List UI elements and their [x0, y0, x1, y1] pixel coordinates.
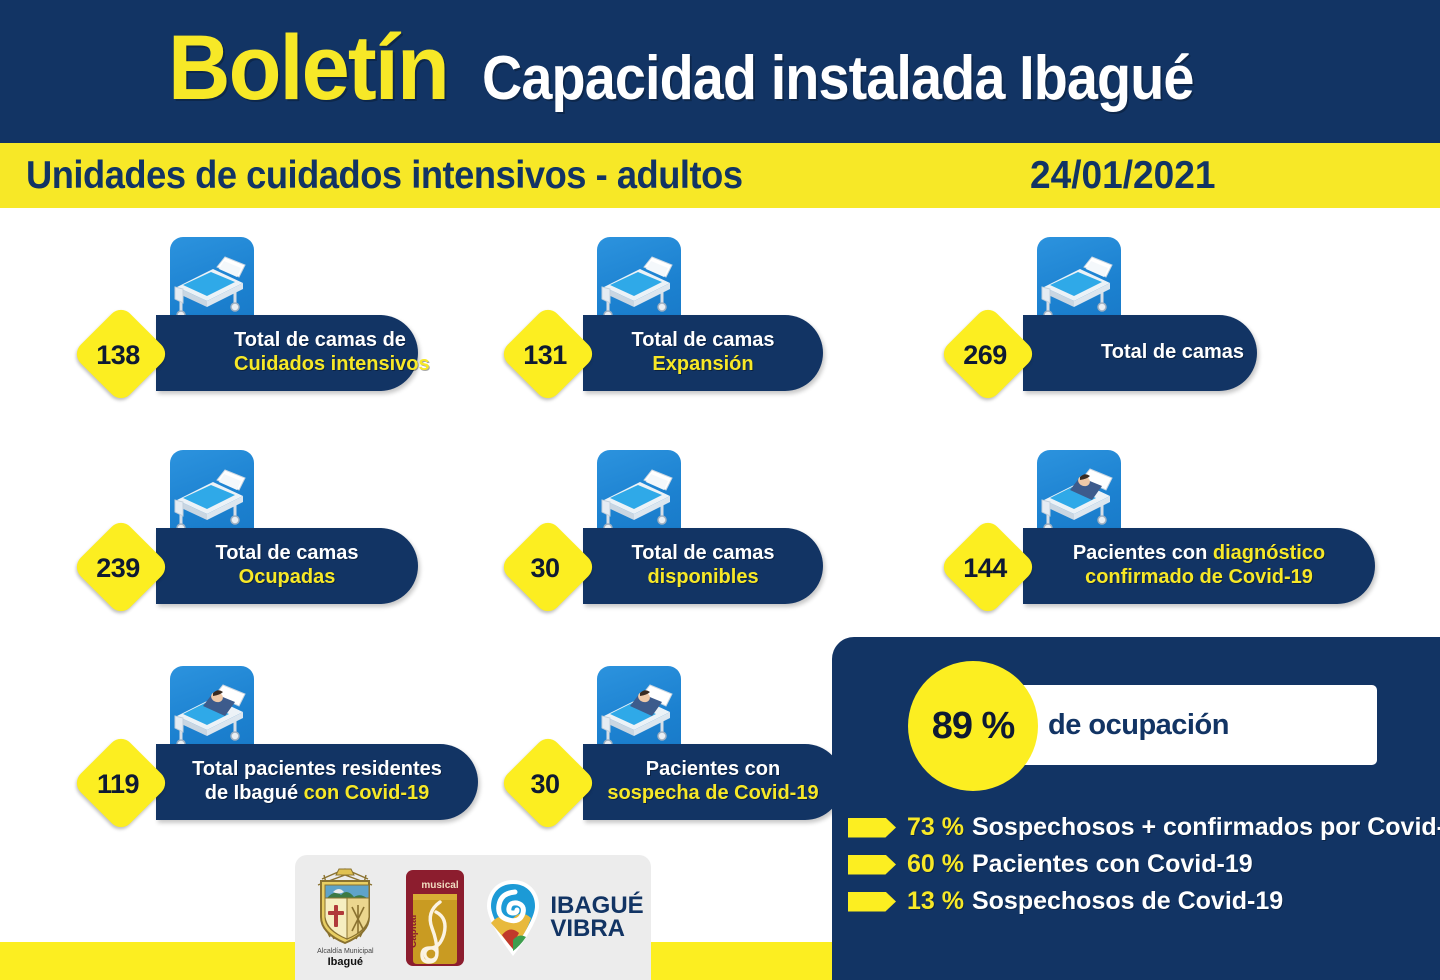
- legend-item: 13 % Sospechosos de Covid-19: [848, 883, 1428, 920]
- stat-label-line2: Cuidados intensivos: [234, 353, 418, 377]
- legend-text: Sospechosos + confirmados por Covid-19: [972, 813, 1440, 842]
- stat-card-pacientes-diagnostico-confirmado[interactable]: Pacientes con diagnóstico confirmado de …: [945, 450, 1375, 610]
- stat-label-line1: Total pacientes residentes: [192, 758, 442, 782]
- stat-label-line1: Total de camas: [631, 329, 774, 353]
- legend-item: 60 % Pacientes con Covid-19: [848, 846, 1428, 883]
- stat-card-pill: Pacientes con sospecha de Covid-19: [583, 744, 843, 820]
- stat-card-pill: Total de camas Expansión: [583, 315, 823, 391]
- stat-value-badge: 239: [78, 528, 158, 608]
- stat-value-badge: 138: [78, 315, 158, 395]
- stat-card-total-camas[interactable]: Total de camas 269: [945, 237, 1265, 397]
- shield-city-name: Ibagué: [328, 956, 363, 968]
- stat-value: 119: [78, 744, 158, 824]
- stat-value-badge: 131: [505, 315, 585, 395]
- header-title-group: Boletín Capacidad instalada Ibagué: [168, 22, 1272, 114]
- stat-card-total-camas-cuidados-intensivos[interactable]: Total de camas de Cuidados intensivos 13…: [78, 237, 418, 397]
- stat-value-badge: 269: [945, 315, 1025, 395]
- alcaldia-shield-logo: Alcaldía Municipal Ibagué: [302, 865, 388, 970]
- occupancy-percent-circle: 89 %: [908, 661, 1038, 791]
- stat-label-line1: Pacientes con diagnóstico: [1073, 542, 1325, 566]
- legend-arrow-chip-icon: [848, 818, 896, 838]
- stat-card-pacientes-sospecha-covid[interactable]: Pacientes con sospecha de Covid-19 30: [505, 666, 845, 826]
- stat-value: 138: [78, 315, 158, 395]
- report-date: 24/01/2021: [1030, 154, 1215, 198]
- stat-label-line1: Total de camas: [631, 542, 774, 566]
- stat-value: 30: [505, 744, 585, 824]
- stat-label-line2: confirmado de Covid-19: [1085, 566, 1313, 590]
- stat-label-line1: Total de camas: [215, 542, 358, 566]
- vibra-wordmark: IBAGUÉ VIBRA: [550, 895, 643, 939]
- stat-label-line1: Pacientes con: [646, 758, 781, 782]
- legend-text: Pacientes con Covid-19: [972, 850, 1253, 879]
- infographic-page: Boletín Capacidad instalada Ibagué Unida…: [0, 0, 1440, 980]
- legend-percent: 73 %: [907, 813, 964, 842]
- occupancy-legend: 73 % Sospechosos + confirmados por Covid…: [848, 809, 1428, 920]
- stat-label-line2-pre: de Ibagué: [205, 782, 304, 804]
- page-title-rest: Capacidad instalada Ibagué: [482, 48, 1194, 110]
- stat-label-line1-highlight: diagnóstico: [1213, 542, 1325, 564]
- stat-value: 131: [505, 315, 585, 395]
- stat-value: 239: [78, 528, 158, 608]
- stat-label-line1: Total de camas: [1101, 341, 1257, 365]
- subtitle-text: Unidades de cuidados intensivos - adulto…: [26, 154, 743, 198]
- stat-label-line1-pre: Pacientes con: [1073, 542, 1213, 564]
- stat-card-pill: Total de camas: [1023, 315, 1257, 391]
- ibague-vibra-logo: IBAGUÉ VIBRA: [482, 877, 643, 959]
- stat-value-badge: 30: [505, 528, 585, 608]
- stat-value-badge: 119: [78, 744, 158, 824]
- stat-card-total-camas-ocupadas[interactable]: Total de camas Ocupadas 239: [78, 450, 418, 610]
- occupancy-label: de ocupación: [1048, 685, 1229, 765]
- stat-label-line2: Expansión: [652, 353, 753, 377]
- stat-card-pill: Total de camas Ocupadas: [156, 528, 418, 604]
- legend-text: Sospechosos de Covid-19: [972, 887, 1283, 916]
- stat-label-line2: sospecha de Covid-19: [607, 782, 818, 806]
- header-banner: Boletín Capacidad instalada Ibagué: [0, 0, 1440, 143]
- legend-percent: 60 %: [907, 850, 964, 879]
- stat-card-pill: Total pacientes residentes de Ibagué con…: [156, 744, 478, 820]
- legend-item: 73 % Sospechosos + confirmados por Covid…: [848, 809, 1428, 846]
- occupancy-panel: 89 % de ocupación 73 % Sospechosos + con…: [832, 637, 1440, 980]
- stat-card-total-pacientes-residentes-ibague[interactable]: Total pacientes residentes de Ibagué con…: [78, 666, 478, 826]
- occupancy-percent-value: 89 %: [932, 705, 1015, 748]
- stat-value: 269: [945, 315, 1025, 395]
- stat-label-line2: disponibles: [647, 566, 758, 590]
- stat-card-total-camas-disponibles[interactable]: Total de camas disponibles 30: [505, 450, 825, 610]
- stat-label-line2: de Ibagué con Covid-19: [205, 782, 429, 806]
- svg-text:musical: musical: [422, 880, 459, 891]
- shield-caption: Alcaldía Municipal: [317, 948, 373, 956]
- capital-musical-logo: musical Capital: [404, 868, 466, 968]
- subtitle-band: Unidades de cuidados intensivos - adulto…: [0, 143, 1440, 208]
- legend-arrow-chip-icon: [848, 855, 896, 875]
- stat-label-line2: Ocupadas: [239, 566, 336, 590]
- page-title-bold: Boletín: [168, 22, 448, 114]
- stat-label-line1: Total de camas de: [234, 329, 418, 353]
- stat-value: 144: [945, 528, 1025, 608]
- stat-label-line2-highlight: con Covid-19: [304, 782, 430, 804]
- stat-value-badge: 144: [945, 528, 1025, 608]
- vibra-line2: VIBRA: [550, 918, 643, 940]
- stat-value: 30: [505, 528, 585, 608]
- legend-arrow-chip-icon: [848, 892, 896, 912]
- svg-text:Capital: Capital: [408, 914, 419, 948]
- stat-value-badge: 30: [505, 744, 585, 824]
- stat-card-pill: Total de camas disponibles: [583, 528, 823, 604]
- stat-card-total-camas-expansion[interactable]: Total de camas Expansión 131: [505, 237, 825, 397]
- logo-bar: Alcaldía Municipal Ibagué musical Capita…: [295, 855, 651, 980]
- stat-card-pill: Pacientes con diagnóstico confirmado de …: [1023, 528, 1375, 604]
- stat-card-pill: Total de camas de Cuidados intensivos: [156, 315, 418, 391]
- legend-percent: 13 %: [907, 887, 964, 916]
